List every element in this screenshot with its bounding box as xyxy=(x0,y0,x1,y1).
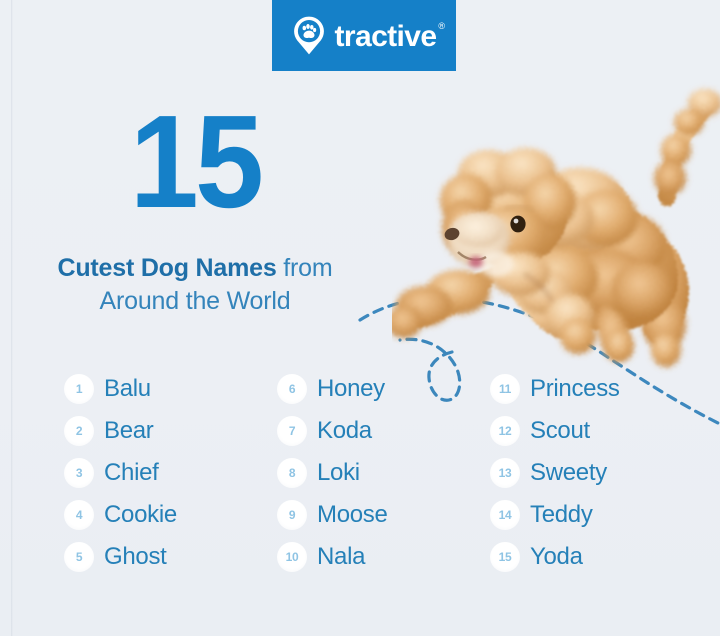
list-item[interactable]: 7 Koda xyxy=(277,410,490,452)
dog-name: Ghost xyxy=(104,545,167,569)
rank-number: 3 xyxy=(76,467,82,479)
dog-name: Moose xyxy=(317,503,388,527)
dog-name: Sweety xyxy=(530,461,607,485)
list-item[interactable]: 4 Cookie xyxy=(64,494,277,536)
rank-number: 14 xyxy=(499,509,512,521)
rank-badge: 14 xyxy=(490,500,520,530)
dog-name: Princess xyxy=(530,377,620,401)
dog-name: Yoda xyxy=(530,545,583,569)
dog-name: Bear xyxy=(104,419,154,443)
list-item[interactable]: 11 Princess xyxy=(490,368,703,410)
list-item[interactable]: 9 Moose xyxy=(277,494,490,536)
list-item[interactable]: 5 Ghost xyxy=(64,536,277,578)
rank-number: 1 xyxy=(76,383,82,395)
list-item[interactable]: 1 Balu xyxy=(64,368,277,410)
rank-number: 10 xyxy=(286,551,299,563)
list-item[interactable]: 12 Scout xyxy=(490,410,703,452)
subtitle-second-line: Around the World xyxy=(100,287,291,315)
dog-name: Teddy xyxy=(530,503,593,527)
dog-name: Koda xyxy=(317,419,372,443)
rank-number: 6 xyxy=(289,383,295,395)
dog-names-grid: 1 Balu 2 Bear 3 Chief 4 Cookie xyxy=(64,368,704,578)
wordmark-text: tractive xyxy=(335,20,437,53)
tractive-logo-banner[interactable]: tractive® xyxy=(272,0,456,71)
rank-number: 2 xyxy=(76,425,82,437)
dog-name: Cookie xyxy=(104,503,177,527)
paw-location-pin-icon xyxy=(292,15,326,56)
dog-name: Nala xyxy=(317,545,365,569)
rank-badge: 12 xyxy=(490,416,520,446)
rank-badge: 4 xyxy=(64,500,94,530)
tractive-wordmark: tractive® xyxy=(335,20,437,52)
rank-badge: 1 xyxy=(64,374,94,404)
jumping-poodle-dog xyxy=(392,78,720,374)
rank-number: 11 xyxy=(499,383,511,395)
rank-number: 13 xyxy=(499,467,512,479)
dog-name: Loki xyxy=(317,461,360,485)
list-item[interactable]: 3 Chief xyxy=(64,452,277,494)
list-item[interactable]: 8 Loki xyxy=(277,452,490,494)
registered-trademark-symbol: ® xyxy=(438,22,444,31)
subtitle-from-word: from xyxy=(277,254,333,282)
list-item[interactable]: 10 Nala xyxy=(277,536,490,578)
headline-count: 15 xyxy=(12,96,379,228)
rank-badge: 5 xyxy=(64,542,94,572)
rank-badge: 9 xyxy=(277,500,307,530)
rank-number: 7 xyxy=(289,425,295,437)
rank-badge: 8 xyxy=(277,458,307,488)
rank-badge: 13 xyxy=(490,458,520,488)
rank-number: 9 xyxy=(289,509,295,521)
list-item[interactable]: 13 Sweety xyxy=(490,452,703,494)
list-item[interactable]: 2 Bear xyxy=(64,410,277,452)
rank-number: 12 xyxy=(499,425,512,437)
list-item[interactable]: 6 Honey xyxy=(277,368,490,410)
dog-name: Scout xyxy=(530,419,590,443)
headline-subtitle: Cutest Dog Names from Around the World xyxy=(0,252,390,318)
names-column-2: 6 Honey 7 Koda 8 Loki 9 Moose xyxy=(277,368,490,578)
dog-name: Chief xyxy=(104,461,159,485)
rank-number: 15 xyxy=(499,551,512,563)
subtitle-bold-part: Cutest Dog Names xyxy=(57,254,276,282)
rank-badge: 6 xyxy=(277,374,307,404)
rank-badge: 10 xyxy=(277,542,307,572)
rank-badge: 3 xyxy=(64,458,94,488)
names-column-3: 11 Princess 12 Scout 13 Sweety 14 xyxy=(490,368,703,578)
dog-name: Balu xyxy=(104,377,151,401)
rank-number: 4 xyxy=(76,509,82,521)
names-column-1: 1 Balu 2 Bear 3 Chief 4 Cookie xyxy=(64,368,277,578)
rank-badge: 11 xyxy=(490,374,520,404)
list-item[interactable]: 14 Teddy xyxy=(490,494,703,536)
rank-badge: 2 xyxy=(64,416,94,446)
rank-number: 8 xyxy=(289,467,295,479)
rank-badge: 15 xyxy=(490,542,520,572)
rank-badge: 7 xyxy=(277,416,307,446)
list-item[interactable]: 15 Yoda xyxy=(490,536,703,578)
dog-name: Honey xyxy=(317,377,385,401)
rank-number: 5 xyxy=(76,551,82,563)
infographic-page: tractive® 15 Cutest Dog Names from Aroun… xyxy=(0,0,720,636)
